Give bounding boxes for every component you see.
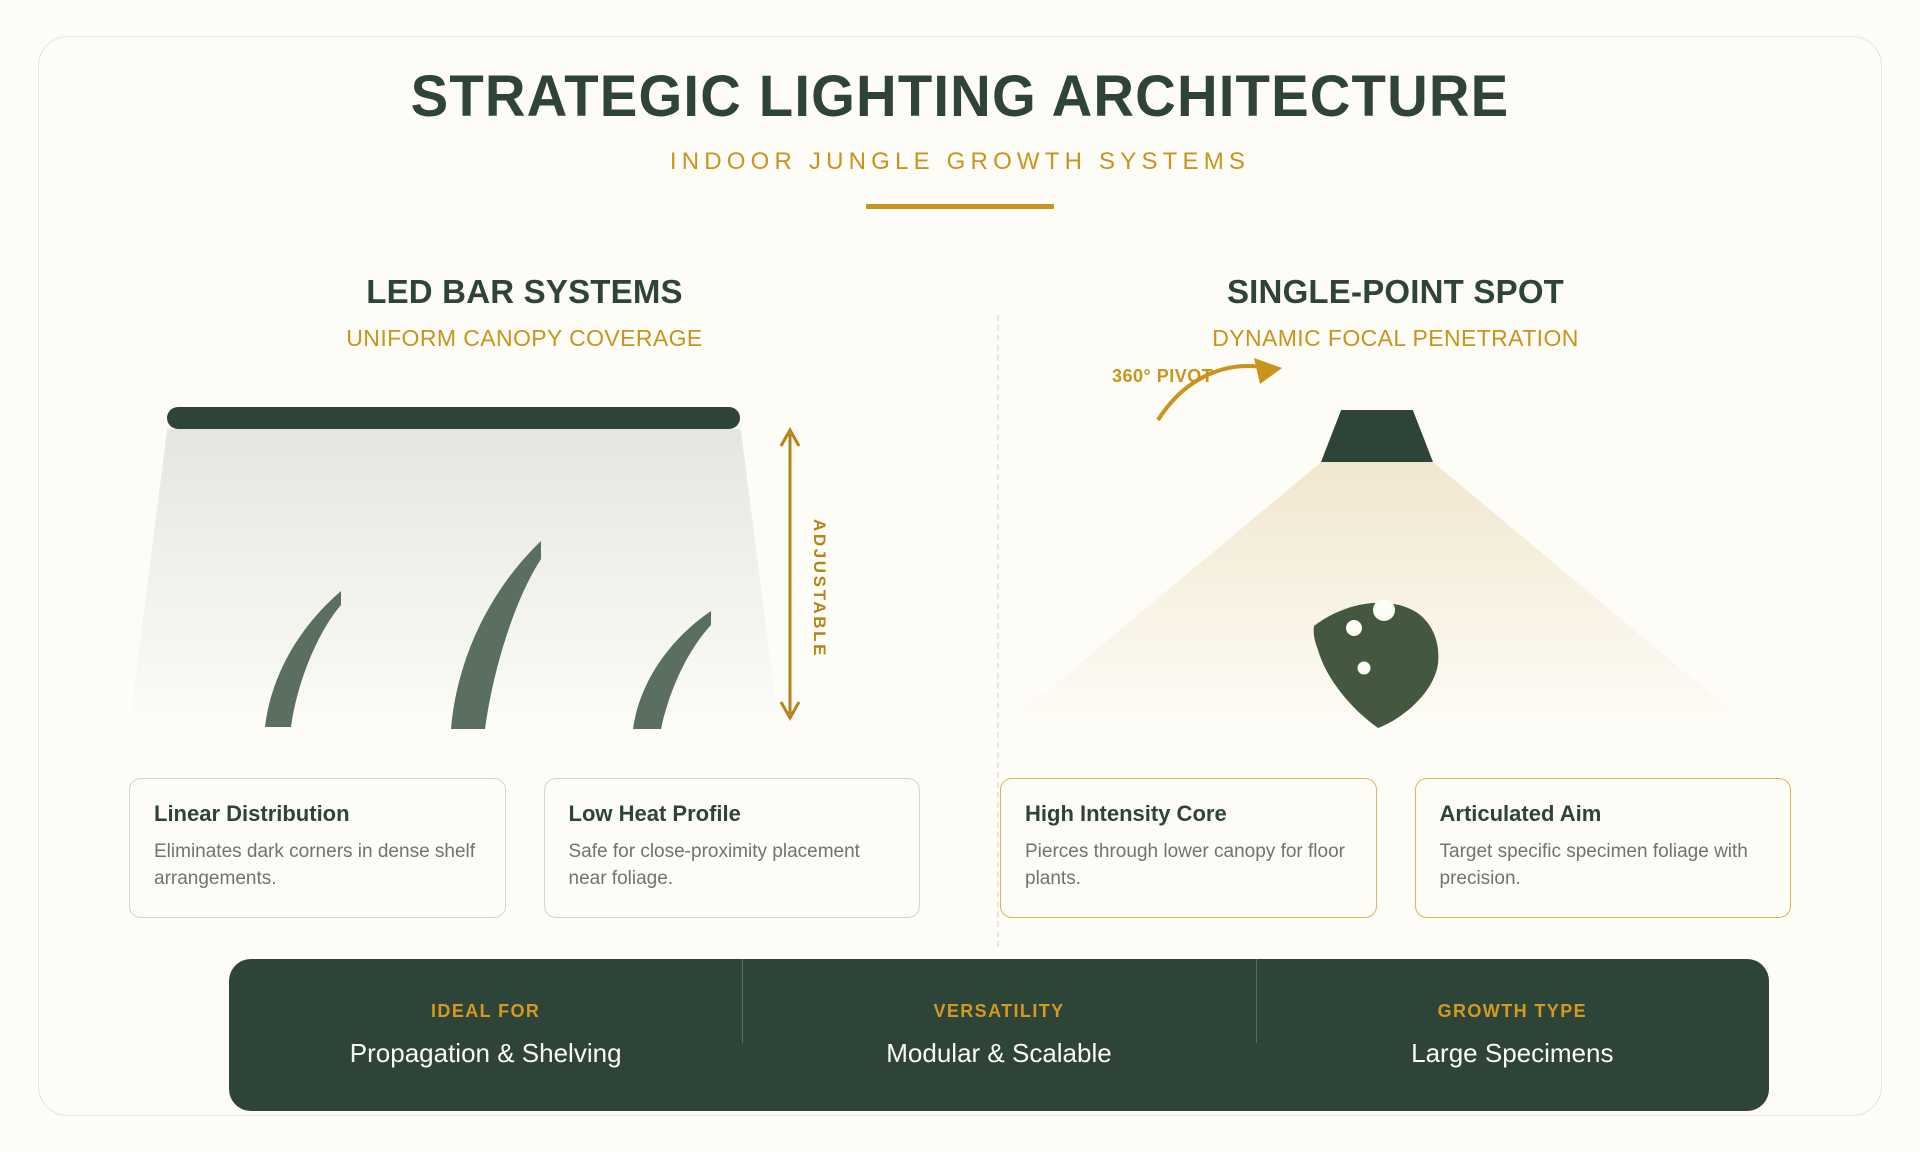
feature-card-title: Articulated Aim bbox=[1440, 801, 1767, 827]
adjustable-label: ADJUSTABLE bbox=[809, 519, 829, 658]
column-subtitle: UNIFORM CANOPY COVERAGE bbox=[129, 325, 920, 352]
summary-cell: VERSATILITY Modular & Scalable bbox=[742, 1001, 1255, 1069]
feature-card-body: Safe for close-proximity placement near … bbox=[569, 839, 896, 893]
monstera-leaf-icon bbox=[1312, 582, 1442, 728]
feature-cards-led-bar: Linear Distribution Eliminates dark corn… bbox=[129, 778, 920, 918]
feature-card-body: Pierces through lower canopy for floor p… bbox=[1025, 839, 1352, 893]
column-header-spot: SINGLE-POINT SPOT DYNAMIC FOCAL PENETRAT… bbox=[1000, 273, 1791, 352]
curved-arrow-icon bbox=[1150, 354, 1300, 424]
summary-cell: IDEAL FOR Propagation & Shelving bbox=[229, 1001, 742, 1069]
column-single-point-spot: SINGLE-POINT SPOT DYNAMIC FOCAL PENETRAT… bbox=[960, 273, 1881, 918]
summary-label: IDEAL FOR bbox=[229, 1001, 742, 1022]
page-subtitle: INDOOR JUNGLE GROWTH SYSTEMS bbox=[39, 148, 1881, 176]
led-bar-fixture-icon bbox=[167, 407, 740, 429]
column-title: SINGLE-POINT SPOT bbox=[1000, 273, 1791, 311]
feature-card-title: Low Heat Profile bbox=[569, 801, 896, 827]
feature-card-body: Eliminates dark corners in dense shelf a… bbox=[154, 839, 481, 893]
feature-card[interactable]: Linear Distribution Eliminates dark corn… bbox=[129, 778, 506, 918]
summary-value: Large Specimens bbox=[1256, 1038, 1769, 1069]
double-arrow-icon bbox=[779, 424, 809, 724]
feature-card[interactable]: High Intensity Core Pierces through lowe… bbox=[1000, 778, 1377, 918]
summary-cell: GROWTH TYPE Large Specimens bbox=[1256, 1001, 1769, 1069]
column-led-bar: LED BAR SYSTEMS UNIFORM CANOPY COVERAGE … bbox=[39, 273, 960, 918]
feature-card[interactable]: Articulated Aim Target specific specimen… bbox=[1415, 778, 1792, 918]
page-title: STRATEGIC LIGHTING ARCHITECTURE bbox=[67, 65, 1854, 130]
summary-value: Propagation & Shelving bbox=[229, 1038, 742, 1069]
comparison-columns: LED BAR SYSTEMS UNIFORM CANOPY COVERAGE … bbox=[39, 273, 1881, 918]
feature-card-body: Target specific specimen foliage with pr… bbox=[1440, 839, 1767, 893]
header-divider bbox=[866, 204, 1054, 209]
feature-card-title: Linear Distribution bbox=[154, 801, 481, 827]
column-header-led-bar: LED BAR SYSTEMS UNIFORM CANOPY COVERAGE bbox=[129, 273, 920, 352]
feature-cards-spot: High Intensity Core Pierces through lowe… bbox=[1000, 778, 1791, 918]
summary-footer-bar: IDEAL FOR Propagation & Shelving VERSATI… bbox=[229, 959, 1769, 1111]
led-bar-diagram: ADJUSTABLE bbox=[129, 386, 920, 756]
column-title: LED BAR SYSTEMS bbox=[129, 273, 920, 311]
feature-card[interactable]: Low Heat Profile Safe for close-proximit… bbox=[544, 778, 921, 918]
led-light-cone bbox=[129, 429, 779, 729]
spot-diagram: 360° PIVOT bbox=[1000, 386, 1791, 756]
spot-fixture-icon bbox=[1321, 410, 1433, 462]
summary-label: VERSATILITY bbox=[742, 1001, 1255, 1022]
column-subtitle: DYNAMIC FOCAL PENETRATION bbox=[1000, 325, 1791, 352]
poster-frame: STRATEGIC LIGHTING ARCHITECTURE INDOOR J… bbox=[38, 36, 1882, 1116]
adjustable-height-indicator: ADJUSTABLE bbox=[779, 424, 849, 724]
summary-label: GROWTH TYPE bbox=[1256, 1001, 1769, 1022]
header: STRATEGIC LIGHTING ARCHITECTURE INDOOR J… bbox=[39, 37, 1881, 209]
summary-value: Modular & Scalable bbox=[742, 1038, 1255, 1069]
feature-card-title: High Intensity Core bbox=[1025, 801, 1352, 827]
